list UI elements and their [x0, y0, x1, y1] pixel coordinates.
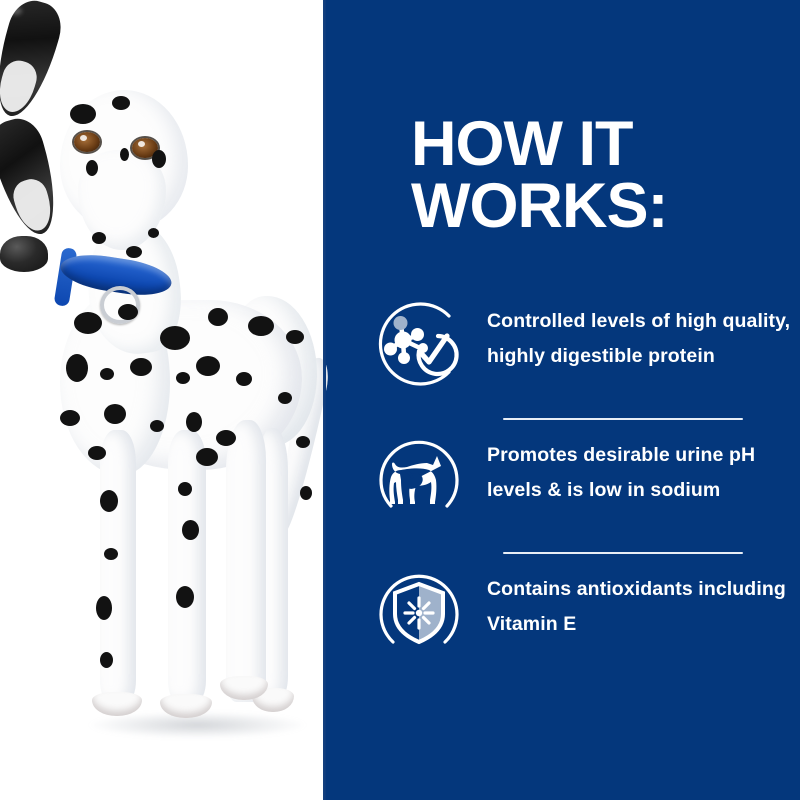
dog-spot — [86, 160, 98, 176]
headline-line-2: WORKS: — [411, 176, 771, 238]
dog-leg-front-right — [168, 430, 206, 702]
dog-spot — [130, 358, 152, 376]
page-title: HOW IT WORKS: — [411, 114, 771, 237]
dog-spot — [104, 404, 126, 424]
dog-spot — [248, 316, 274, 336]
dog-nose — [0, 236, 48, 272]
shield-burst-icon — [371, 564, 467, 660]
dog-spot — [66, 354, 88, 382]
dog-spot — [278, 392, 292, 404]
dog-spot — [186, 412, 202, 432]
dog-spot — [74, 312, 102, 334]
dog-leg-back-left — [226, 420, 266, 702]
dog-spot — [150, 420, 164, 432]
dog-spot — [208, 308, 228, 326]
feature-item-antioxidants: Contains antioxidants including Vitamin … — [371, 558, 791, 682]
feature-item-protein: Controlled levels of high quality, highl… — [371, 290, 791, 414]
dog-spot — [296, 436, 310, 448]
headline-line-1: HOW IT — [411, 109, 632, 179]
dog-spot — [300, 486, 312, 500]
dog-urinary-icon — [371, 430, 467, 526]
dog-spot — [196, 448, 218, 466]
dog-ear-left — [0, 0, 67, 123]
dog-spot — [60, 410, 80, 426]
feature-divider — [503, 418, 743, 420]
dog-spot — [176, 372, 190, 384]
dog-spot — [100, 490, 118, 512]
dog-photo-panel — [0, 0, 323, 800]
dog-paw — [160, 694, 212, 718]
dog-spot — [236, 372, 252, 386]
dog-spot — [92, 232, 106, 244]
dog-spot — [178, 482, 192, 496]
dog-spot — [286, 330, 304, 344]
dog-spot — [160, 326, 190, 350]
dog-spot — [96, 596, 112, 620]
feature-text: Promotes desirable urine pH levels & is … — [487, 430, 791, 509]
promo-card: HOW IT WORKS: — [0, 0, 800, 800]
dog-eye-left — [74, 132, 100, 152]
dog-ear-right — [0, 113, 67, 241]
dog-spot — [182, 520, 199, 540]
content-panel: HOW IT WORKS: — [323, 0, 800, 800]
dalmatian-illustration — [0, 0, 345, 800]
dog-spot — [112, 96, 130, 110]
dog-spot — [104, 548, 118, 560]
dog-spot — [176, 586, 194, 608]
feature-list: Controlled levels of high quality, highl… — [371, 290, 791, 682]
dog-spot — [216, 430, 236, 446]
dog-spot — [100, 652, 113, 668]
dog-spot — [148, 228, 159, 238]
dog-spot — [88, 446, 106, 460]
dog-spot — [118, 304, 138, 320]
feature-item-urinary: Promotes desirable urine pH levels & is … — [371, 424, 791, 548]
dog-spot — [126, 246, 142, 258]
dog-spot — [100, 368, 114, 380]
molecule-check-icon — [371, 296, 467, 392]
dog-spot — [196, 356, 220, 376]
dog-spot — [152, 150, 166, 168]
dog-spot — [70, 104, 96, 124]
dog-paw — [92, 692, 142, 716]
feature-text: Contains antioxidants including Vitamin … — [487, 564, 791, 643]
feature-divider — [503, 552, 743, 554]
dog-spot — [120, 148, 129, 161]
dog-photo — [0, 0, 345, 800]
feature-text: Controlled levels of high quality, highl… — [487, 296, 791, 375]
